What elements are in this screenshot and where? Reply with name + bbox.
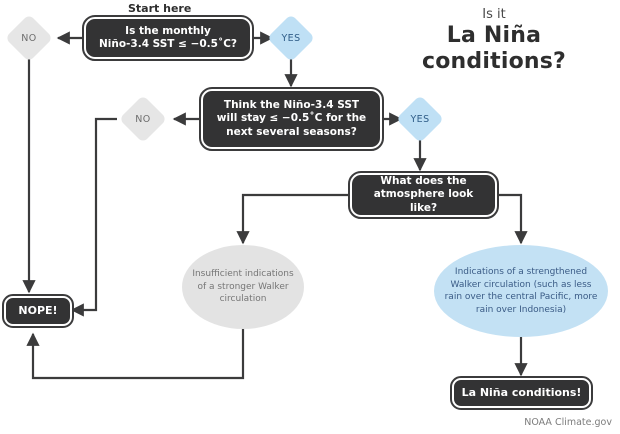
q2-line-3: next several seasons? xyxy=(217,126,366,140)
q2-line-2: will stay ≤ −0.5˚C for the xyxy=(217,112,366,126)
outcome-insufficient-walker: Insufficient indications of a stronger W… xyxy=(182,245,304,329)
wire-gray-ellipse-to-nope xyxy=(33,328,243,378)
result-label: La Niña conditions! xyxy=(462,386,582,400)
blue-ellipse-text: Indications of a strengthened Walker cir… xyxy=(444,266,598,316)
q1-line-2: Niño-3.4 SST ≤ −0.5˚C? xyxy=(99,38,237,52)
flowchart-canvas: Is it La Niña conditions? Start here Is … xyxy=(0,0,620,434)
decision-no-2-label: NO xyxy=(135,114,150,125)
start-here-label: Start here xyxy=(128,2,191,15)
q3-line-1: What does the xyxy=(359,175,488,189)
gray-ellipse-text: Insufficient indications of a stronger W… xyxy=(192,268,294,306)
outcome-strengthened-walker: Indications of a strengthened Walker cir… xyxy=(434,245,608,337)
title-line-3: conditions? xyxy=(384,49,604,75)
q1-line-1: Is the monthly xyxy=(99,25,237,39)
decision-no-2[interactable]: NO xyxy=(120,101,166,137)
q3-line-2: atmosphere look like? xyxy=(359,188,488,215)
node-result-nope[interactable]: NOPE! xyxy=(4,296,72,326)
nope-label: NOPE! xyxy=(18,304,57,318)
title-line-2: La Niña xyxy=(384,23,604,49)
decision-yes-1[interactable]: YES xyxy=(268,20,314,56)
q2-line-1: Think the Niño-3.4 SST xyxy=(217,99,366,113)
wire-q3-to-blue-ellipse xyxy=(497,195,521,243)
credit-text: NOAA Climate.gov xyxy=(524,417,612,428)
node-result-la-nina[interactable]: La Niña conditions! xyxy=(452,378,591,408)
decision-no-1[interactable]: NO xyxy=(6,20,52,56)
node-question-atmosphere[interactable]: What does the atmosphere look like? xyxy=(350,173,497,217)
decision-yes-2[interactable]: YES xyxy=(397,101,443,137)
wire-no2-to-nope xyxy=(72,119,117,310)
node-question-stay-below[interactable]: Think the Niño-3.4 SST will stay ≤ −0.5˚… xyxy=(201,89,382,149)
node-question-monthly-sst[interactable]: Is the monthly Niño-3.4 SST ≤ −0.5˚C? xyxy=(84,17,252,59)
title-line-1: Is it xyxy=(384,6,604,23)
wire-q3-to-gray-ellipse xyxy=(243,195,350,243)
decision-yes-2-label: YES xyxy=(410,114,429,125)
decision-yes-1-label: YES xyxy=(281,33,300,44)
page-title: Is it La Niña conditions? xyxy=(384,6,604,75)
decision-no-1-label: NO xyxy=(21,33,36,44)
